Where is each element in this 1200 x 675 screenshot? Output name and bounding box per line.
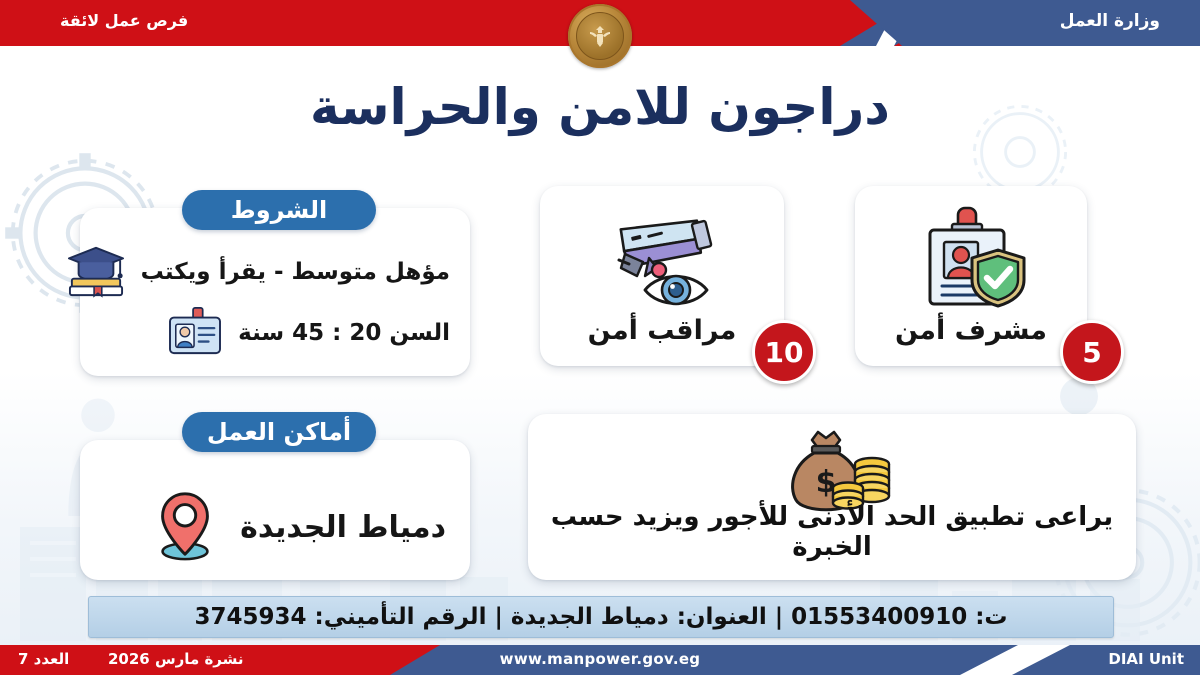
ministry-seal-inner [576,12,624,60]
cctv-camera-eye-icon [540,202,784,314]
job-title: مراقب أمن [540,315,784,346]
condition-row: مؤهل متوسط - يقرأ ويكتب [65,242,450,302]
condition-row: السن 20 : 45 سنة [166,306,450,360]
job-card[interactable]: مراقب أمن [540,186,784,366]
footer-unit-label: DIAI Unit [1108,645,1184,675]
salary-note: يراعى تطبيق الحد الأدنى للأجور ويزيد حسب… [528,502,1136,562]
id-badge-shield-check-icon [855,202,1087,314]
salary-card: $ يراعى تطبي [528,414,1136,580]
footer-issue-number: العدد 7 [18,645,69,675]
job-vacancy-count-badge: 5 [1060,320,1124,384]
ministry-label: وزارة العمل [1060,0,1160,46]
conditions-card: مؤهل متوسط - يقرأ ويكتب السن 20 : 45 سنة [80,208,470,376]
contact-bar: ت: 01553400910 | العنوان: دمياط الجديدة … [88,596,1114,638]
workplaces-pill-label: أماكن العمل [182,412,376,452]
map-pin-icon [146,486,224,568]
job-title: مشرف أمن [855,315,1087,346]
eagle-emblem-icon [585,21,615,51]
id-card-icon [166,306,224,360]
poster-root: وزارة العمل فرص عمل لائقة دراجون للامن و… [0,0,1200,675]
page-title: دراجون للامن والحراسة [0,78,1200,136]
page-footer: www.manpower.gov.eg العدد 7 نشرة مارس 20… [0,645,1200,675]
workplace-location: دمياط الجديدة [240,510,446,545]
footer-bulletin-date: نشرة مارس 2026 [108,645,244,675]
job-vacancy-count-badge: 10 [752,320,816,384]
conditions-pill-label: الشروط [182,190,376,230]
workplace-row: دمياط الجديدة [146,486,446,568]
condition-text: السن 20 : 45 سنة [238,320,450,346]
header-tagline: فرص عمل لائقة [60,0,188,46]
workplaces-card: دمياط الجديدة [80,440,470,580]
job-card[interactable]: مشرف أمن [855,186,1087,366]
ministry-seal-icon [568,4,632,68]
graduation-cap-books-icon [65,242,127,302]
condition-text: مؤهل متوسط - يقرأ ويكتب [141,259,450,285]
